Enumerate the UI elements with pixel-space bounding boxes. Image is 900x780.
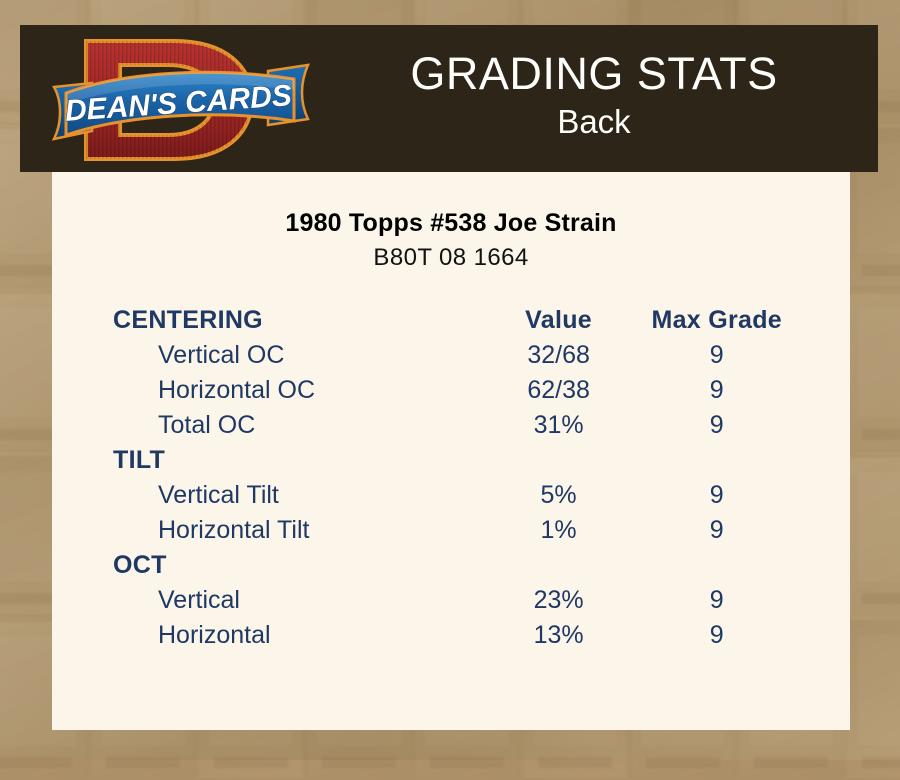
table-row: Vertical Tilt5%9 xyxy=(106,478,796,513)
card-title: 1980 Topps #538 Joe Strain xyxy=(52,209,850,238)
grading-stats-table: CENTERINGValueMax GradeVertical OC32/689… xyxy=(106,303,796,653)
table-row: Vertical23%9 xyxy=(106,583,796,618)
stat-value: 31% xyxy=(480,408,638,443)
card-serial: B80T 08 1664 xyxy=(52,244,850,272)
stat-max-grade: 9 xyxy=(637,338,796,373)
stat-value: 32/68 xyxy=(480,338,638,373)
stat-label: Horizontal Tilt xyxy=(106,513,480,548)
column-header-max-grade: Max Grade xyxy=(637,303,796,338)
stats-section-header: CENTERINGValueMax Grade xyxy=(106,303,796,338)
stat-label: Vertical OC xyxy=(106,338,480,373)
grading-stats-page: DEAN'S CARDS GRADING STATS Back 1980 Top… xyxy=(0,0,900,760)
table-row: Horizontal13%9 xyxy=(106,618,796,653)
table-row: Total OC31%9 xyxy=(106,408,796,443)
stats-section-header: TILT xyxy=(106,443,796,478)
header-title-block: GRADING STATS Back xyxy=(320,47,868,143)
section-title: TILT xyxy=(106,443,480,478)
stat-value: 62/38 xyxy=(480,373,638,408)
section-spacer-grade xyxy=(637,443,796,478)
section-spacer-value xyxy=(480,443,638,478)
background-card-thumb xyxy=(846,292,900,452)
stat-value: 23% xyxy=(480,583,638,618)
section-title: CENTERING xyxy=(106,303,480,338)
column-header-value: Value xyxy=(480,303,638,338)
stat-label: Total OC xyxy=(106,408,480,443)
header-bar: DEAN'S CARDS GRADING STATS Back xyxy=(20,25,878,172)
stats-section-header: OCT xyxy=(106,548,796,583)
stat-value: 13% xyxy=(480,618,638,653)
stat-max-grade: 9 xyxy=(637,408,796,443)
stat-label: Horizontal OC xyxy=(106,373,480,408)
stat-label: Vertical xyxy=(106,583,480,618)
content-panel: 1980 Topps #538 Joe Strain B80T 08 1664 … xyxy=(52,172,850,730)
stat-label: Horizontal xyxy=(106,618,480,653)
deans-cards-logo[interactable]: DEAN'S CARDS xyxy=(46,27,316,172)
stat-max-grade: 9 xyxy=(637,583,796,618)
section-title: OCT xyxy=(106,548,480,583)
stat-value: 5% xyxy=(480,478,638,513)
section-spacer-value xyxy=(480,548,638,583)
background-card-thumb xyxy=(846,620,900,780)
stat-max-grade: 9 xyxy=(637,513,796,548)
background-card-thumb xyxy=(846,456,900,616)
section-spacer-grade xyxy=(637,548,796,583)
stat-max-grade: 9 xyxy=(637,373,796,408)
page-subtitle: Back xyxy=(320,101,868,143)
stat-label: Vertical Tilt xyxy=(106,478,480,513)
stat-max-grade: 9 xyxy=(637,618,796,653)
stat-max-grade: 9 xyxy=(637,478,796,513)
table-row: Horizontal OC62/389 xyxy=(106,373,796,408)
stat-value: 1% xyxy=(480,513,638,548)
table-row: Horizontal Tilt1%9 xyxy=(106,513,796,548)
page-title: GRADING STATS xyxy=(320,47,868,101)
table-row: Vertical OC32/689 xyxy=(106,338,796,373)
